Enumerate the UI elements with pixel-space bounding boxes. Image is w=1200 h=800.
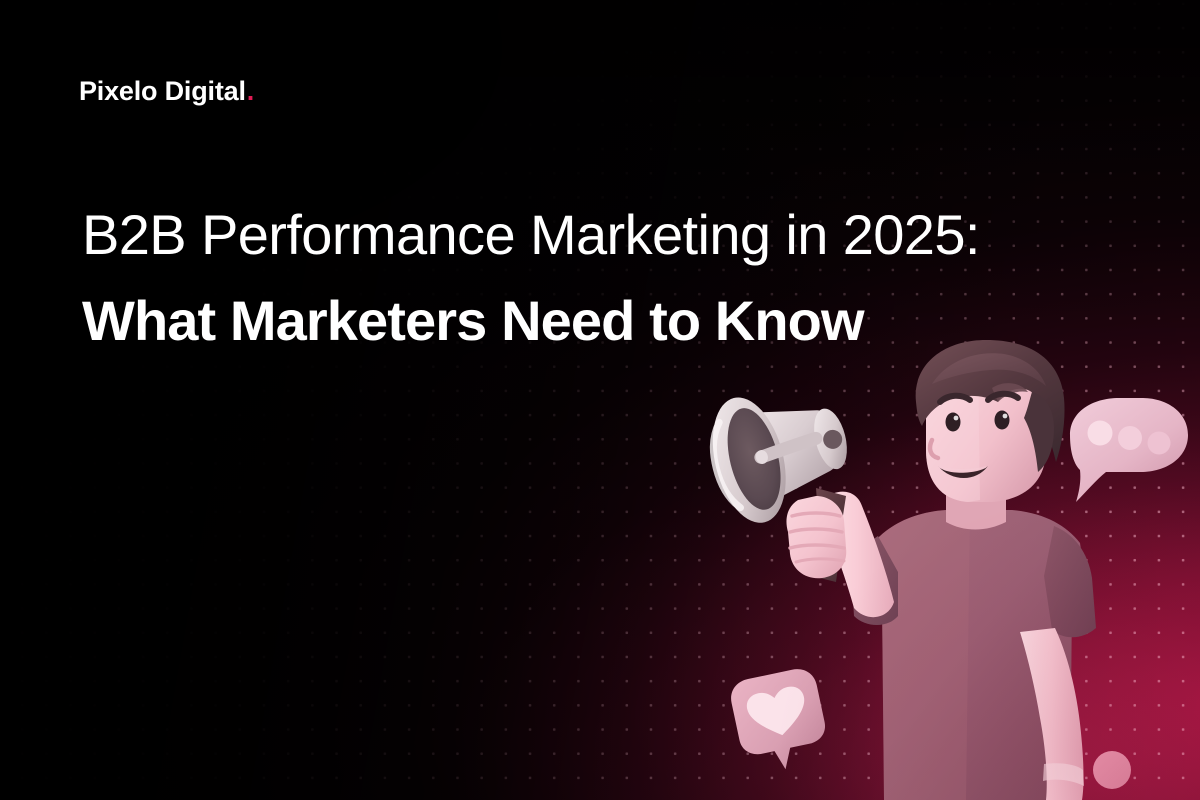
headline-block: B2B Performance Marketing in 2025: What … [82,192,1142,364]
brand-name-text: Pixelo Digital [79,78,246,105]
character-figure [821,340,1096,800]
heart-badge-icon [727,665,832,777]
headline-line-1: B2B Performance Marketing in 2025: [82,192,1142,278]
hero-illustration [640,340,1200,800]
headline-line-2: What Marketers Need to Know [82,278,1142,364]
brand-accent-dot: . [247,78,255,105]
banner-canvas: Pixelo Digital . B2B Performance Marketi… [0,0,1200,800]
brand-logo[interactable]: Pixelo Digital . [79,78,254,105]
speech-bubble-icon [1070,398,1188,502]
gripping-hand [786,496,846,578]
user-icon [1086,751,1138,800]
